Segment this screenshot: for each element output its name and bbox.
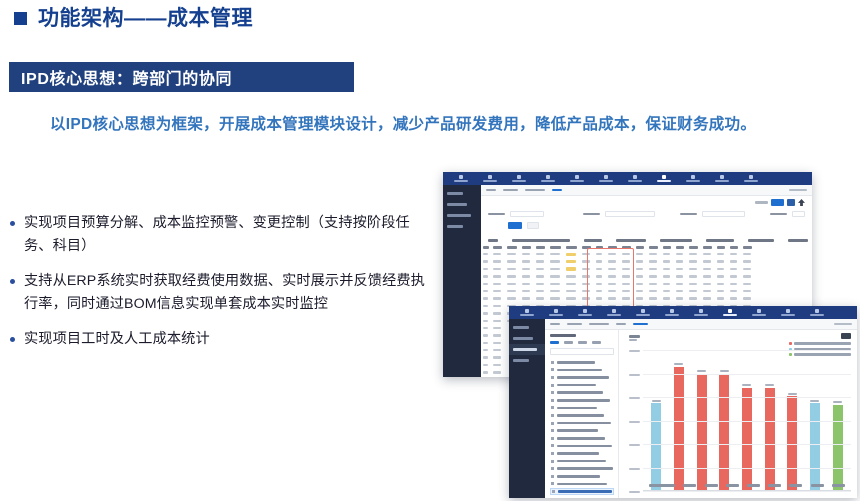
table-row[interactable] — [481, 287, 812, 294]
table-cell — [519, 253, 533, 255]
app-top-nav — [443, 172, 812, 185]
table-cell — [519, 283, 533, 285]
table-cell — [619, 275, 633, 277]
nav-item-icon — [786, 309, 790, 313]
table-cell — [727, 253, 740, 255]
table-group-cell — [609, 237, 653, 244]
table-header-cell — [504, 244, 519, 251]
nav-item[interactable] — [708, 173, 735, 184]
table-cell — [547, 268, 563, 270]
nav-item-icon — [488, 175, 492, 179]
tree-item-label — [557, 399, 610, 402]
table-header-cell — [547, 244, 563, 251]
tree-item-label — [557, 429, 598, 432]
sidebar-item-label — [447, 225, 463, 228]
table-cell — [619, 253, 633, 255]
intro-paragraph: 以IPD核心思想为框架，开展成本管理模块设计，减少产品研发费用，降低产品成本，保… — [12, 113, 852, 137]
table-header-cell — [700, 244, 714, 251]
table-cell — [490, 275, 504, 277]
table-cell — [740, 283, 754, 285]
table-cell — [481, 349, 490, 351]
filter-bar — [481, 206, 812, 229]
tree-item[interactable] — [550, 419, 614, 427]
table-cell — [490, 334, 504, 336]
x-axis-tick-labels — [645, 484, 849, 487]
nav-item-icon — [641, 309, 645, 313]
nav-item-label — [694, 314, 708, 316]
y-axis-title — [629, 335, 640, 341]
search-button[interactable] — [508, 222, 522, 229]
table-cell — [593, 297, 605, 299]
nav-item-label — [512, 180, 526, 182]
bar-value-label — [765, 384, 774, 386]
nav-item-label — [715, 180, 729, 182]
tree-item[interactable] — [550, 457, 614, 465]
filter-buttons — [488, 222, 805, 229]
nav-item[interactable] — [679, 173, 706, 184]
table-cell — [660, 297, 673, 299]
nav-item[interactable] — [513, 307, 540, 318]
sidebar-item[interactable] — [509, 322, 545, 333]
nav-item[interactable] — [571, 307, 598, 318]
tree-item-icon — [551, 444, 554, 447]
table-cell — [481, 371, 490, 373]
sidebar-item[interactable] — [509, 344, 545, 355]
sidebar-item[interactable] — [443, 221, 481, 232]
table-cell — [605, 275, 619, 277]
table-cell — [714, 290, 727, 292]
table-cell — [727, 275, 740, 277]
chart-settings-icon[interactable] — [841, 333, 851, 339]
table-cell — [481, 297, 490, 299]
table-cell — [686, 275, 700, 277]
x-axis-tick-label — [768, 484, 781, 487]
sidebar-item-label — [447, 203, 467, 206]
tree-item-icon — [551, 437, 554, 440]
tree-item[interactable] — [550, 412, 614, 420]
table-cell — [660, 253, 673, 255]
bullet-text: 实现项目预算分解、成本监控预警、变更控制（支持按阶段任务、科目） — [24, 212, 430, 258]
tab-item[interactable] — [633, 323, 648, 326]
tree-item[interactable] — [550, 465, 614, 473]
nav-item-icon — [662, 175, 666, 179]
x-axis-tick-label — [726, 484, 739, 487]
table-cell — [547, 275, 563, 277]
table-cell — [714, 283, 727, 285]
reset-button[interactable] — [527, 222, 539, 229]
table-cell — [740, 260, 754, 262]
chart-gridline — [643, 397, 851, 398]
tree-item[interactable] — [550, 480, 614, 488]
table-cell — [563, 283, 579, 285]
legend-swatch — [789, 342, 792, 345]
x-axis-tick-label — [832, 484, 845, 487]
nav-item[interactable] — [774, 307, 801, 318]
table-header-cell — [519, 244, 533, 251]
bullet-dot-icon — [10, 221, 15, 226]
table-row[interactable] — [481, 295, 812, 302]
chart-plot-area — [629, 350, 851, 491]
sidebar-item-label — [513, 337, 533, 340]
table-cell — [563, 297, 579, 299]
table-cell — [646, 283, 660, 285]
toolbar-actions — [481, 196, 812, 206]
table-cell — [490, 260, 504, 262]
table-cell — [714, 260, 727, 262]
table-cell — [481, 253, 490, 255]
nav-item-icon — [583, 309, 587, 313]
x-axis-tick-label — [747, 484, 760, 487]
table-cell — [504, 260, 519, 262]
table-cell — [593, 275, 605, 277]
tree-tab[interactable] — [578, 341, 587, 344]
table-cell — [593, 253, 605, 255]
table-row[interactable] — [481, 251, 812, 258]
filter-label — [770, 213, 787, 216]
table-row[interactable] — [481, 280, 812, 287]
table-cell — [740, 268, 754, 270]
tree-item-list — [550, 359, 614, 496]
tab-item[interactable] — [550, 323, 560, 326]
chart-gridline — [643, 421, 851, 422]
tree-item-icon — [551, 368, 554, 371]
nav-item-icon — [728, 309, 732, 313]
table-cell — [700, 275, 714, 277]
bullet-dot-icon — [10, 337, 15, 342]
x-axis-tick-label — [811, 484, 824, 487]
nav-item[interactable] — [687, 307, 714, 318]
tree-item[interactable] — [550, 404, 614, 412]
tree-item[interactable] — [550, 396, 614, 404]
bar-value-label — [697, 370, 706, 372]
table-cell — [660, 268, 673, 270]
nav-item[interactable] — [505, 173, 532, 184]
tree-item-icon — [551, 482, 554, 485]
filter-input[interactable] — [605, 211, 656, 217]
table-cell — [740, 290, 754, 292]
table-cell — [547, 290, 563, 292]
nav-item[interactable] — [447, 173, 474, 184]
tree-search-input[interactable] — [550, 348, 614, 355]
table-cell — [646, 297, 660, 299]
nav-item-label — [636, 314, 650, 316]
table-header-cell — [563, 244, 579, 251]
table-cell — [563, 260, 579, 263]
table-header-cell — [660, 244, 673, 251]
tree-item-icon — [551, 399, 554, 402]
tab-item[interactable] — [525, 189, 545, 192]
table-cell — [490, 283, 504, 285]
tree-item[interactable] — [550, 366, 614, 374]
table-cell — [481, 342, 490, 344]
tree-item[interactable] — [550, 442, 614, 450]
bar — [719, 374, 729, 490]
table-row[interactable] — [481, 258, 812, 265]
table-cell — [533, 268, 547, 270]
bar-value-label — [810, 400, 819, 402]
table-cell — [740, 297, 754, 299]
table-cell — [547, 297, 563, 299]
table-cell — [533, 253, 547, 255]
table-cell — [490, 364, 504, 366]
tree-item-icon — [551, 391, 554, 394]
chart-gridline — [643, 444, 851, 445]
table-row[interactable] — [481, 273, 812, 280]
tree-tab[interactable] — [550, 341, 559, 344]
table-cell — [660, 260, 673, 262]
nav-item[interactable] — [534, 173, 561, 184]
table-header-cell — [740, 244, 754, 251]
y-axis-tick-label — [629, 444, 640, 446]
tree-item-label — [557, 407, 597, 410]
table-cell — [533, 260, 547, 262]
table-cell — [481, 305, 490, 307]
nav-item-icon — [546, 175, 550, 179]
table-cell — [646, 290, 660, 292]
sidebar-item-label — [513, 348, 537, 351]
table-cell — [490, 253, 504, 255]
tree-panel-title — [550, 334, 576, 337]
table-cell — [481, 334, 490, 336]
tree-item[interactable] — [550, 450, 614, 458]
tree-item-icon — [551, 384, 554, 387]
sidebar-item[interactable] — [443, 210, 481, 221]
tree-item[interactable] — [550, 488, 614, 496]
bullet-list: 实现项目预算分解、成本监控预警、变更控制（支持按阶段任务、科目） 支持从ERP系… — [10, 212, 430, 363]
table-cell — [481, 283, 490, 285]
tree-item[interactable] — [550, 389, 614, 397]
nav-item-label — [628, 180, 642, 182]
sidebar-item[interactable] — [509, 333, 545, 344]
chart-gridline — [643, 468, 851, 469]
nav-item-label — [607, 314, 621, 316]
table-header-cell — [533, 244, 547, 251]
table-cell — [633, 297, 646, 299]
tree-tab[interactable] — [564, 341, 573, 344]
table-cell — [519, 297, 533, 299]
table-cell — [633, 283, 646, 285]
nav-item[interactable] — [629, 307, 656, 318]
tree-item[interactable] — [550, 434, 614, 442]
sidebar-item-label — [447, 192, 463, 195]
legend-label — [794, 342, 851, 344]
tab-item[interactable] — [552, 189, 562, 192]
primary-action-button[interactable] — [771, 199, 784, 206]
bullet-dot-icon — [10, 279, 15, 284]
toolbar-label — [755, 201, 768, 204]
nav-item[interactable] — [716, 307, 743, 318]
table-cell — [727, 260, 740, 262]
chart-gridline — [643, 350, 851, 351]
bar — [765, 388, 775, 490]
tree-item-icon — [551, 460, 554, 463]
table-cell — [579, 260, 593, 262]
tree-item-icon — [552, 490, 555, 493]
section-banner-text: IPD核心思想：跨部门的协同 — [9, 65, 232, 89]
table-cell — [533, 297, 547, 299]
tree-item-label — [557, 467, 613, 470]
nav-item[interactable] — [621, 173, 648, 184]
bar — [651, 403, 661, 490]
tree-item[interactable] — [550, 359, 614, 367]
table-cell — [519, 290, 533, 292]
bar-value-label — [742, 384, 751, 386]
table-cell — [563, 253, 579, 256]
page-title-text: 功能架构——成本管理 — [38, 8, 253, 29]
table-header-cell — [714, 244, 727, 251]
table-cell — [533, 290, 547, 292]
tree-item-label — [557, 483, 607, 486]
nav-item-icon — [459, 175, 463, 179]
table-cell — [579, 268, 593, 270]
table-cell — [646, 253, 660, 255]
bar-value-label — [833, 401, 842, 403]
table-cell — [490, 349, 504, 351]
slide-root: 功能架构——成本管理 IPD核心思想：跨部门的协同 以IPD核心思想为框架，开展… — [0, 0, 860, 501]
table-cell — [660, 290, 673, 292]
nav-item-icon — [699, 309, 703, 313]
nav-item-icon — [720, 175, 724, 179]
sidebar-item[interactable] — [443, 199, 481, 210]
screenshot-cost-chart — [509, 306, 857, 498]
section-banner: IPD核心思想：跨部门的协同 — [9, 62, 354, 92]
nav-item[interactable] — [542, 307, 569, 318]
table-cell — [660, 275, 673, 277]
y-axis-tick-label — [629, 468, 640, 470]
table-cell — [563, 275, 579, 277]
sidebar-item-label — [513, 359, 529, 362]
table-cell — [490, 268, 504, 270]
secondary-action-button[interactable] — [787, 199, 795, 206]
tree-item-label — [557, 384, 596, 387]
y-axis-tick-label — [629, 491, 640, 493]
tree-item[interactable] — [550, 472, 614, 480]
nav-item-label — [810, 314, 824, 316]
nav-item[interactable] — [737, 173, 764, 184]
app-top-nav — [509, 306, 857, 319]
bar-value-label — [674, 363, 683, 365]
table-cell — [579, 283, 593, 285]
tree-item[interactable] — [550, 374, 614, 382]
table-cell — [533, 283, 547, 285]
table-header-cell — [646, 244, 660, 251]
table-cell — [490, 356, 504, 358]
tree-item[interactable] — [550, 427, 614, 435]
table-cell — [490, 327, 504, 329]
tree-item-label — [557, 414, 604, 417]
table-cell — [605, 283, 619, 285]
tab-item[interactable] — [589, 323, 609, 326]
nav-item-icon — [525, 309, 529, 313]
table-header-cell — [605, 244, 619, 251]
nav-item[interactable] — [745, 307, 772, 318]
table-cell — [579, 297, 593, 299]
table-group-header-row — [481, 237, 812, 244]
bar — [674, 367, 684, 490]
filter-select[interactable] — [510, 211, 544, 217]
nav-item[interactable] — [658, 307, 685, 318]
nav-item-label — [483, 180, 497, 182]
table-cell — [563, 290, 579, 292]
table-cell — [700, 260, 714, 262]
table-cell — [714, 268, 727, 270]
table-cell — [619, 268, 633, 270]
nav-item-icon — [633, 175, 637, 179]
table-cell — [504, 297, 519, 299]
bar-value-label — [788, 393, 797, 395]
tree-item-icon — [551, 414, 554, 417]
title-bullet-square-icon — [14, 12, 27, 25]
bar-value-label — [652, 400, 661, 402]
bar — [810, 403, 820, 490]
nav-item[interactable] — [600, 307, 627, 318]
tree-item-label — [557, 437, 605, 440]
app-sidebar — [443, 185, 481, 377]
table-cell — [673, 275, 686, 277]
table-cell — [490, 371, 504, 373]
table-cell — [579, 275, 593, 277]
table-cell — [714, 253, 727, 255]
nav-item-label — [723, 314, 737, 316]
tab-item[interactable] — [567, 323, 582, 326]
tab-bar-right-label — [789, 189, 807, 192]
chart-panel — [619, 330, 857, 498]
legend-item[interactable] — [789, 342, 851, 345]
filter-input[interactable] — [792, 211, 805, 217]
table-cell — [605, 290, 619, 292]
nav-item[interactable] — [563, 173, 590, 184]
nav-item[interactable] — [650, 173, 677, 184]
table-cell — [563, 267, 579, 270]
table-cell — [533, 275, 547, 277]
tab-item[interactable] — [503, 189, 518, 192]
filter-input[interactable] — [702, 211, 745, 217]
app-body — [509, 319, 857, 498]
export-icon[interactable] — [798, 199, 805, 206]
nav-item-label — [657, 180, 671, 182]
tab-item[interactable] — [616, 323, 626, 326]
tree-item-icon — [551, 361, 554, 364]
table-cell — [490, 305, 504, 307]
tab-bar-right-label — [834, 323, 852, 326]
nav-item-label — [599, 180, 613, 182]
table-cell — [700, 253, 714, 255]
table-cell — [633, 253, 646, 255]
nav-item-icon — [749, 175, 753, 179]
sidebar-item-label — [513, 326, 529, 329]
nav-item[interactable] — [592, 173, 619, 184]
table-cell — [727, 283, 740, 285]
tree-item[interactable] — [550, 381, 614, 389]
y-axis-tick-label — [629, 421, 640, 423]
sidebar-item[interactable] — [443, 188, 481, 199]
table-cell — [673, 283, 686, 285]
nav-item-icon — [691, 175, 695, 179]
tree-item-label — [557, 460, 606, 463]
table-row[interactable] — [481, 265, 812, 272]
table-cell — [700, 283, 714, 285]
tab-item[interactable] — [486, 189, 496, 192]
table-cell — [579, 290, 593, 292]
nav-item[interactable] — [803, 307, 830, 318]
table-cell — [593, 260, 605, 262]
y-axis-tick-label — [629, 397, 640, 399]
sidebar-item[interactable] — [509, 355, 545, 366]
tree-tab[interactable] — [592, 341, 601, 344]
nav-item[interactable] — [476, 173, 503, 184]
table-cell — [547, 260, 563, 262]
tree-item-icon — [551, 406, 554, 409]
